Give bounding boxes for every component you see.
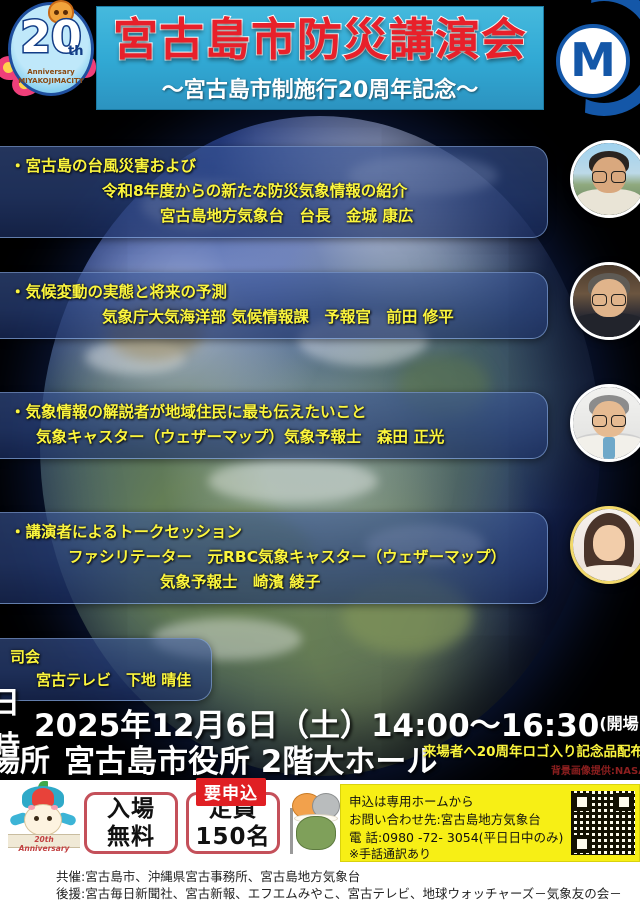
bottom-info-bar: 20th Anniversary 入場 無料 要申込 定員 150名 申込は専用… bbox=[0, 780, 640, 905]
speaker-photo-4 bbox=[570, 506, 640, 584]
topic-4-line-3: 気象予報士 崎濱 綾子 bbox=[10, 570, 537, 595]
contact-line-3: 電 話:0980 -72- 3054(平日日中のみ) bbox=[349, 827, 563, 846]
venue-label: 場所 bbox=[0, 736, 50, 780]
topic-1-line-2: 令和8年度からの新たな防災気象情報の紹介 bbox=[10, 179, 537, 204]
topic-4-line-1: ・講演者によるトークセッション bbox=[10, 520, 537, 545]
anniversary-logo: 20 th Anniversary MIYAKOJIMACITY bbox=[0, 0, 104, 110]
emblem-letter: M bbox=[556, 22, 630, 98]
pin-mascot-icon: 20th Anniversary bbox=[8, 786, 78, 852]
page-subtitle: ～宮古島市制施行20周年記念～ bbox=[96, 72, 544, 104]
free-admission-line-2: 無料 bbox=[107, 823, 155, 851]
sponsor-line-2: 後援:宮古毎日新聞社、宮古新報、エフエムみやこ、宮古テレビ、地球ウォッチャーズ－… bbox=[56, 883, 622, 902]
topic-1-title: 宮古島の台風災害および bbox=[26, 157, 197, 175]
free-admission-line-1: 入場 bbox=[107, 795, 155, 823]
topic-2-line-2: 気象庁大気海洋部 気候情報課 予報官 前田 修平 bbox=[10, 305, 537, 330]
souvenir-note: 来場者へ20周年ロゴ入り記念品配布 bbox=[423, 740, 640, 760]
speaker-photo-3 bbox=[570, 384, 640, 462]
topic-3-title: 気象情報の解説者が地域住民に最も伝えたいこと bbox=[26, 403, 367, 421]
contact-line-1: 申込は専用ホームから bbox=[349, 791, 474, 810]
mc-name: 宮古テレビ 下地 晴佳 bbox=[10, 669, 201, 692]
speaker-photo-1 bbox=[570, 140, 640, 218]
topic-1-line-1: ・宮古島の台風災害および bbox=[10, 154, 537, 179]
venue-value: 宮古島市役所 2階大ホール bbox=[64, 736, 437, 781]
qr-eye-bottom-left bbox=[573, 835, 591, 853]
mc-panel: 司会 宮古テレビ 下地 晴佳 bbox=[0, 638, 212, 701]
qr-eye-top-left bbox=[573, 793, 591, 811]
contact-line-4: ※手話通訳あり bbox=[349, 845, 431, 862]
avatar bbox=[573, 509, 640, 581]
topic-2-title: 気候変動の実態と将来の予測 bbox=[26, 283, 228, 301]
speaker-photo-2 bbox=[570, 262, 640, 340]
anniversary-suffix: th bbox=[68, 44, 83, 59]
avatar bbox=[573, 265, 640, 337]
topic-3-line-1: ・気象情報の解説者が地域住民に最も伝えたいこと bbox=[10, 400, 537, 425]
topic-1-line-3: 宮古島地方気象台 台長 金城 康広 bbox=[10, 204, 537, 229]
shisa-character-icon bbox=[288, 788, 344, 856]
contact-line-2: お問い合わせ先:宮古島地方気象台 bbox=[349, 809, 541, 828]
topic-panel-1: ・宮古島の台風災害および 令和8年度からの新たな防災気象情報の紹介 宮古島地方気… bbox=[0, 146, 548, 238]
pin-ribbon-text: 20th Anniversary bbox=[8, 835, 80, 853]
capacity-line-2: 150名 bbox=[195, 823, 270, 851]
topic-panel-3: ・気象情報の解説者が地域住民に最も伝えたいこと 気象キャスター（ウェザーマップ）… bbox=[0, 392, 548, 459]
anniversary-caption-1: Anniversary bbox=[8, 68, 94, 76]
topic-panel-2: ・気候変動の実態と将来の予測 気象庁大気海洋部 気候情報課 予報官 前田 修平 bbox=[0, 272, 548, 339]
topic-2-line-1: ・気候変動の実態と将来の予測 bbox=[10, 280, 537, 305]
avatar bbox=[573, 143, 640, 215]
topic-4-bullet: ・ bbox=[10, 523, 26, 541]
contact-info-box: 申込は専用ホームから お問い合わせ先:宮古島地方気象台 電 話:0980 -72… bbox=[340, 784, 640, 862]
topic-1-bullet: ・ bbox=[10, 157, 26, 175]
open-time-note: (開場13:30 bbox=[599, 710, 640, 734]
topic-3-bullet: ・ bbox=[10, 403, 26, 421]
background-image-credit: 背景画像提供:NASA bbox=[551, 762, 640, 777]
application-required-badge: 要申込 bbox=[196, 778, 266, 806]
topic-panel-4: ・講演者によるトークセッション ファシリテーター 元RBC気象キャスター（ウェザ… bbox=[0, 512, 548, 604]
topic-3-line-2: 気象キャスター（ウェザーマップ）気象予報士 森田 正光 bbox=[10, 425, 537, 450]
topic-4-title: 講演者によるトークセッション bbox=[26, 523, 243, 541]
shisa-body bbox=[296, 816, 336, 850]
mc-label: 司会 bbox=[10, 646, 201, 669]
free-admission-box: 入場 無料 bbox=[84, 792, 178, 854]
topic-2-bullet: ・ bbox=[10, 283, 26, 301]
page-title: 宮古島市防災講演会 bbox=[96, 10, 544, 70]
qr-code[interactable] bbox=[571, 791, 635, 855]
city-emblem-icon: M bbox=[538, 4, 640, 112]
poster-header: 20 th Anniversary MIYAKOJIMACITY 宮古島市防災講… bbox=[0, 0, 640, 116]
topic-4-line-2: ファシリテーター 元RBC気象キャスター（ウェザーマップ） bbox=[10, 545, 537, 570]
anniversary-caption-2: MIYAKOJIMACITY bbox=[8, 77, 94, 85]
avatar bbox=[573, 387, 640, 459]
qr-eye-top-right bbox=[615, 793, 633, 811]
